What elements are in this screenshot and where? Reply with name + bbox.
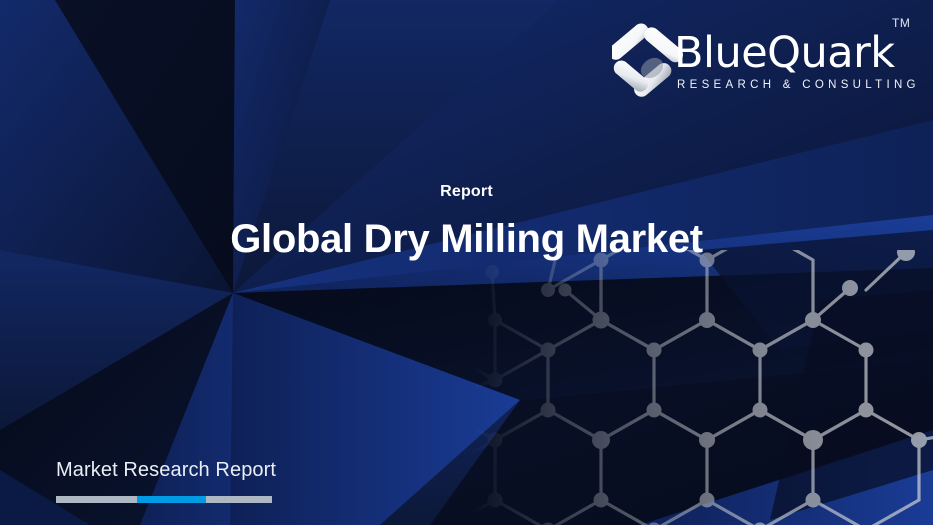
brand-wordmark: BlueQuark RESEARCH & CONSULTING	[674, 30, 914, 92]
brand-logo: BlueQuark RESEARCH & CONSULTING	[612, 16, 912, 108]
report-kicker: Report	[0, 182, 933, 202]
brand-name: BlueQuark	[674, 30, 914, 76]
accent-segment-middle	[137, 496, 206, 503]
accent-segment-right	[206, 496, 272, 503]
page-title: Global Dry Milling Market	[0, 214, 933, 264]
brand-tagline: RESEARCH & CONSULTING	[677, 78, 914, 92]
title-block: Report Global Dry Milling Market	[0, 182, 933, 264]
accent-bar	[56, 496, 272, 503]
accent-segment-left	[56, 496, 137, 503]
report-cover: TM	[0, 0, 933, 525]
footer-block: Market Research Report	[56, 458, 476, 503]
footer-label: Market Research Report	[56, 458, 476, 482]
